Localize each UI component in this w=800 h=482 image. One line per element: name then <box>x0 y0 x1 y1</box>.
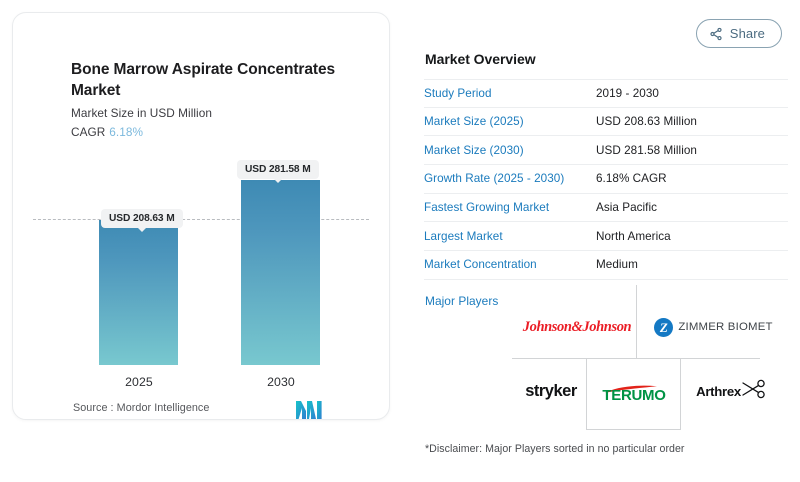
chart-source: Source : Mordor Intelligence <box>73 402 209 414</box>
market-overview-panel: Market Overview Study Period 2019 - 2030… <box>424 0 800 482</box>
bar-label-2025: USD 208.63 M <box>101 209 183 228</box>
major-players-grid: Johnson&Johnson Z ZIMMER BIOMET stryker … <box>424 285 800 435</box>
table-row: Growth Rate (2025 - 2030) 6.18% CAGR <box>424 165 788 194</box>
zimmer-biomet-label: ZIMMER BIOMET <box>678 321 772 333</box>
bar-2025[interactable] <box>99 220 178 365</box>
table-row: Market Concentration Medium <box>424 251 788 280</box>
terumo-label: TERUMO <box>602 388 665 403</box>
row-value: 6.18% CAGR <box>596 172 788 185</box>
row-label: Largest Market <box>424 230 596 243</box>
row-label: Growth Rate (2025 - 2030) <box>424 172 596 185</box>
row-label: Market Size (2030) <box>424 144 596 157</box>
logo-arthrex: Arthrex <box>686 378 776 404</box>
table-row: Study Period 2019 - 2030 <box>424 79 788 108</box>
logo-stryker: stryker <box>512 378 590 404</box>
arthrex-label: Arthrex <box>696 384 741 399</box>
row-label: Fastest Growing Market <box>424 201 596 214</box>
row-value: USD 281.58 Million <box>596 144 788 157</box>
players-disclaimer: *Disclaimer: Major Players sorted in no … <box>425 443 685 455</box>
row-value: Medium <box>596 258 788 271</box>
arthrex-scissors-icon <box>740 379 766 399</box>
table-row: Largest Market North America <box>424 222 788 251</box>
x-axis-label-2030: 2030 <box>241 375 321 389</box>
table-row: Market Size (2025) USD 208.63 Million <box>424 108 788 137</box>
bar-2030[interactable] <box>241 180 320 365</box>
table-row: Fastest Growing Market Asia Pacific <box>424 194 788 223</box>
logo-terumo: TERUMO <box>592 377 676 407</box>
bar-label-2030: USD 281.58 M <box>237 160 319 179</box>
grid-center-box-top <box>586 358 681 359</box>
row-label: Study Period <box>424 87 596 100</box>
grid-divider-vertical <box>636 285 637 358</box>
logo-zimmer-biomet: Z ZIMMER BIOMET <box>646 315 781 339</box>
row-value: 2019 - 2030 <box>596 87 788 100</box>
row-label: Market Size (2025) <box>424 115 596 128</box>
logo-johnson-and-johnson: Johnson&Johnson <box>522 315 632 339</box>
zimmer-z-icon: Z <box>654 318 673 337</box>
row-label: Market Concentration <box>424 258 596 271</box>
row-value: USD 208.63 Million <box>596 115 788 128</box>
chart-card: Bone Marrow Aspirate Concentrates Market… <box>12 12 390 420</box>
x-axis-label-2025: 2025 <box>99 375 179 389</box>
table-row: Market Size (2030) USD 281.58 Million <box>424 136 788 165</box>
row-value: Asia Pacific <box>596 201 788 214</box>
overview-title: Market Overview <box>425 51 536 67</box>
overview-table: Study Period 2019 - 2030 Market Size (20… <box>424 79 788 280</box>
market-snapshot-page: Share Bone Marrow Aspirate Concentrates … <box>0 0 800 482</box>
mordor-intelligence-logo <box>296 399 322 419</box>
bar-chart-plot: USD 208.63 M USD 281.58 M 2025 2030 <box>13 13 390 420</box>
row-value: North America <box>596 230 788 243</box>
